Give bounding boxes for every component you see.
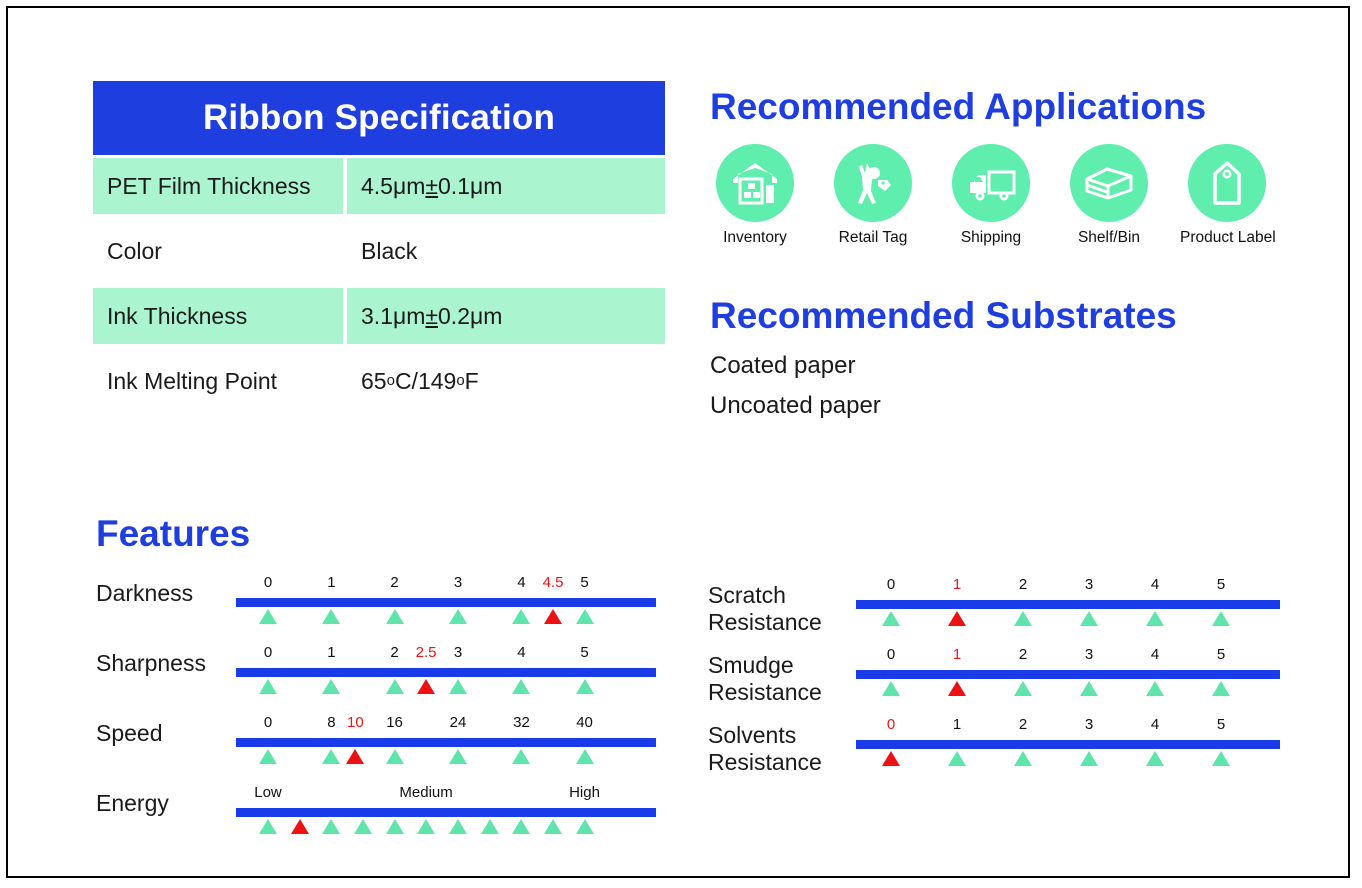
feature-scale-tick: 1: [327, 574, 335, 591]
recommended-applications-list: InventoryRetail TagShippingShelf/BinProd…: [708, 144, 1274, 247]
feature-scale-marker: [512, 609, 530, 624]
feature-scale-marker: [1212, 681, 1230, 696]
feature-scale-marker: [386, 679, 404, 694]
recommended-substrates-list: Coated paperUncoated paper: [710, 346, 881, 426]
feature-scale-marker: [322, 819, 340, 834]
feature-scale-marker: [449, 749, 467, 764]
feature-scale-active-value: 10: [347, 714, 364, 731]
feature-scale-tick: 5: [1217, 716, 1225, 733]
feature-scale-tick: Medium: [399, 784, 452, 801]
feature-scale-label: Smudge Resistance: [708, 652, 822, 706]
features-heading: Features: [96, 513, 250, 555]
feature-scale-marker: [576, 609, 594, 624]
feature-scale-marker: [322, 749, 340, 764]
application-label: Product Label: [1180, 229, 1274, 247]
feature-scale-tick: 4: [517, 644, 525, 661]
spec-row-value: Black: [347, 223, 665, 279]
feature-scale-tick: 32: [513, 714, 530, 731]
feature-scale-tick: 0: [264, 714, 272, 731]
feature-scale-marker: [1014, 751, 1032, 766]
feature-scale-tick: 2: [1019, 716, 1027, 733]
feature-scale-tick: 3: [454, 574, 462, 591]
spec-row: Ink Thickness3.1μm±0.2μm: [93, 288, 665, 344]
datasheet-page: Ribbon Specification PET Film Thickness4…: [6, 6, 1350, 878]
feature-scale-tick: 2: [1019, 646, 1027, 663]
feature-scale-marker: [512, 749, 530, 764]
application-item: Product Label: [1180, 144, 1274, 247]
feature-scale-tick: 40: [576, 714, 593, 731]
feature-scale-active-value: 4.5: [543, 574, 564, 591]
feature-scale-marker-active: [948, 611, 966, 626]
feature-scale-tick: 3: [1085, 576, 1093, 593]
feature-scale-marker: [386, 609, 404, 624]
application-item: Inventory: [708, 144, 802, 247]
feature-scale-tick: 3: [1085, 716, 1093, 733]
warehouse-icon: [716, 144, 794, 222]
substrates-heading: Recommended Substrates: [710, 295, 1177, 337]
feature-scale-tick: 8: [327, 714, 335, 731]
feature-scale-marker-active: [291, 819, 309, 834]
feature-scale-marker: [449, 679, 467, 694]
feature-scale-tick: 2: [390, 574, 398, 591]
feature-scale-marker: [1146, 611, 1164, 626]
ribbon-specification-table: Ribbon Specification PET Film Thickness4…: [93, 81, 665, 409]
feature-scale-marker: [544, 819, 562, 834]
feature-scale-marker: [322, 609, 340, 624]
spec-row-label: Ink Thickness: [93, 288, 343, 344]
feature-scale-marker: [882, 681, 900, 696]
feature-scale-track: [236, 668, 656, 677]
feature-scale-tick: 5: [580, 574, 588, 591]
feature-scale-tick: 0: [887, 646, 895, 663]
feature-scale-track: [236, 808, 656, 817]
spec-row-label: Color: [93, 223, 343, 279]
feature-scale-marker: [882, 611, 900, 626]
feature-scale-marker: [1146, 681, 1164, 696]
spec-row-value: 4.5μm±0.1μm: [347, 158, 665, 214]
feature-scale-marker: [322, 679, 340, 694]
feature-scale-track: [856, 600, 1280, 609]
feature-scale-marker: [259, 609, 277, 624]
feature-scale-marker: [1080, 681, 1098, 696]
feature-scale-marker: [1014, 611, 1032, 626]
application-item: Shipping: [944, 144, 1038, 247]
feature-scale-label: Energy: [96, 790, 169, 817]
feature-scale-marker: [354, 819, 372, 834]
spec-row: ColorBlack: [93, 223, 665, 279]
spec-row: PET Film Thickness4.5μm±0.1μm: [93, 158, 665, 214]
spec-row: Ink Melting Point65oC/149oF: [93, 353, 665, 409]
feature-scale-tick: 3: [1085, 646, 1093, 663]
feature-scale-tick: 5: [580, 644, 588, 661]
tag-icon: [1188, 144, 1266, 222]
feature-scale-track: [856, 740, 1280, 749]
spec-row-value: 3.1μm±0.2μm: [347, 288, 665, 344]
feature-scale-marker-active: [544, 609, 562, 624]
feature-scale-marker: [1146, 751, 1164, 766]
spec-row-label: Ink Melting Point: [93, 353, 343, 409]
feature-scale-tick: 4: [1151, 646, 1159, 663]
feature-scale-tick: 2: [1019, 576, 1027, 593]
application-label: Retail Tag: [826, 229, 920, 247]
feature-scale-marker: [449, 819, 467, 834]
feature-scale-marker-active: [417, 679, 435, 694]
feature-scale-tick: 5: [1217, 646, 1225, 663]
feature-scale-tick: 1: [953, 716, 961, 733]
feature-scale-track: [856, 670, 1280, 679]
application-label: Shipping: [944, 229, 1038, 247]
feature-scale-marker: [417, 819, 435, 834]
feature-scale-marker: [1080, 751, 1098, 766]
feature-scale-marker: [512, 679, 530, 694]
feature-scale-tick: 4: [517, 574, 525, 591]
feature-scale-tick: 0: [264, 574, 272, 591]
feature-scale-marker: [1212, 751, 1230, 766]
feature-scale-marker: [386, 819, 404, 834]
application-item: Shelf/Bin: [1062, 144, 1156, 247]
feature-scale-tick: 1: [327, 644, 335, 661]
spec-table-title: Ribbon Specification: [93, 81, 665, 155]
feature-scale-active-value: 1: [953, 576, 961, 593]
feature-scale-marker: [576, 679, 594, 694]
feature-scale-tick: 5: [1217, 576, 1225, 593]
feature-scale-active-value: 1: [953, 646, 961, 663]
feature-scale-tick: 2: [390, 644, 398, 661]
feature-scale-label: Scratch Resistance: [708, 582, 822, 636]
feature-scale-marker-active: [948, 681, 966, 696]
application-label: Shelf/Bin: [1062, 229, 1156, 247]
substrate-item: Coated paper: [710, 346, 881, 386]
feature-scale-active-value: 0: [887, 716, 895, 733]
feature-scale-marker: [449, 609, 467, 624]
spec-row-value: 65oC/149oF: [347, 353, 665, 409]
feature-scale-marker: [259, 819, 277, 834]
feature-scale-marker: [948, 751, 966, 766]
person-tag-icon: [834, 144, 912, 222]
feature-scale-marker: [259, 679, 277, 694]
feature-scale-track: [236, 738, 656, 747]
substrate-item: Uncoated paper: [710, 386, 881, 426]
feature-scale-label: Darkness: [96, 580, 193, 607]
feature-scale-marker: [481, 819, 499, 834]
application-label: Inventory: [708, 229, 802, 247]
feature-scale-tick: 0: [264, 644, 272, 661]
feature-scale-tick: 4: [1151, 576, 1159, 593]
feature-scale-tick: 4: [1151, 716, 1159, 733]
application-item: Retail Tag: [826, 144, 920, 247]
feature-scale-marker-active: [882, 751, 900, 766]
feature-scale-tick: 0: [887, 576, 895, 593]
feature-scale-tick: High: [569, 784, 600, 801]
feature-scale-marker: [259, 749, 277, 764]
feature-scale-tick: 16: [386, 714, 403, 731]
feature-scale-tick: Low: [254, 784, 282, 801]
feature-scale-marker-active: [346, 749, 364, 764]
feature-scale-track: [236, 598, 656, 607]
truck-icon: [952, 144, 1030, 222]
feature-scale-marker: [576, 819, 594, 834]
feature-scale-marker: [1212, 611, 1230, 626]
feature-scale-marker: [386, 749, 404, 764]
spec-table-body: PET Film Thickness4.5μm±0.1μmColorBlackI…: [93, 158, 665, 409]
bin-icon: [1070, 144, 1148, 222]
applications-heading: Recommended Applications: [710, 86, 1206, 128]
feature-scale-tick: 3: [454, 644, 462, 661]
feature-scale-marker: [512, 819, 530, 834]
feature-scale-marker: [1014, 681, 1032, 696]
feature-scale-label: Speed: [96, 720, 163, 747]
spec-row-label: PET Film Thickness: [93, 158, 343, 214]
feature-scale-active-value: 2.5: [416, 644, 437, 661]
feature-scale-marker: [1080, 611, 1098, 626]
feature-scale-label: Sharpness: [96, 650, 206, 677]
feature-scale-marker: [576, 749, 594, 764]
feature-scale-label: Solvents Resistance: [708, 722, 822, 776]
feature-scale-tick: 24: [450, 714, 467, 731]
